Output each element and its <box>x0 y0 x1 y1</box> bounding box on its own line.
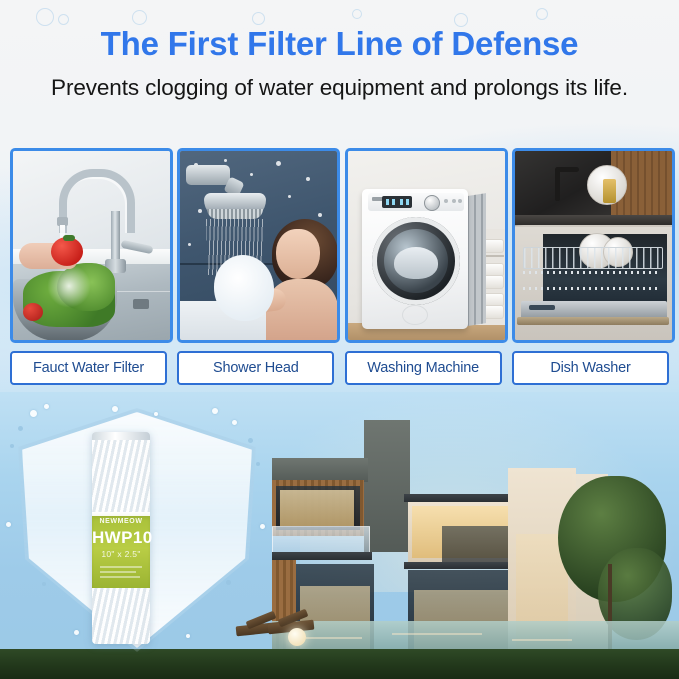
bubble-icon <box>536 8 548 20</box>
page-title: The First Filter Line of Defense <box>0 24 679 64</box>
cartridge-size: 10" x 2.5" <box>92 549 150 559</box>
feature-card-washer[interactable]: Washing Machine <box>345 148 502 385</box>
cartridge-model: HWP10 <box>92 528 150 548</box>
bubble-icon <box>132 10 147 25</box>
feature-caption: Dish Washer <box>512 351 669 385</box>
dish-washer-photo <box>512 148 675 343</box>
feature-card-shower[interactable]: Shower Head <box>177 148 334 385</box>
modern-house-illustration <box>272 414 679 679</box>
faucet-water-filter-photo <box>10 148 173 343</box>
feature-caption: Shower Head <box>177 351 334 385</box>
shower-head-photo <box>177 148 340 343</box>
water-splash-shield: NEWMEOW HWP10 10" x 2.5" <box>4 404 272 656</box>
product-marketing-poster: The First Filter Line of Defense Prevent… <box>0 0 679 679</box>
page-subtitle: Prevents clogging of water equipment and… <box>0 74 679 102</box>
filter-cartridge: NEWMEOW HWP10 10" x 2.5" <box>92 432 150 644</box>
feature-caption: Washing Machine <box>345 351 502 385</box>
cartridge-brand: NEWMEOW <box>92 518 150 525</box>
feature-card-row: Fauct Water Filter <box>10 148 669 385</box>
garden-orb-lamp <box>288 628 306 646</box>
feature-caption: Fauct Water Filter <box>10 351 167 385</box>
hero-scene: NEWMEOW HWP10 10" x 2.5" <box>0 392 679 679</box>
bubble-icon <box>352 9 362 19</box>
feature-card-dishwasher[interactable]: Dish Washer <box>512 148 669 385</box>
feature-card-faucet[interactable]: Fauct Water Filter <box>10 148 167 385</box>
washing-machine-photo <box>345 148 508 343</box>
